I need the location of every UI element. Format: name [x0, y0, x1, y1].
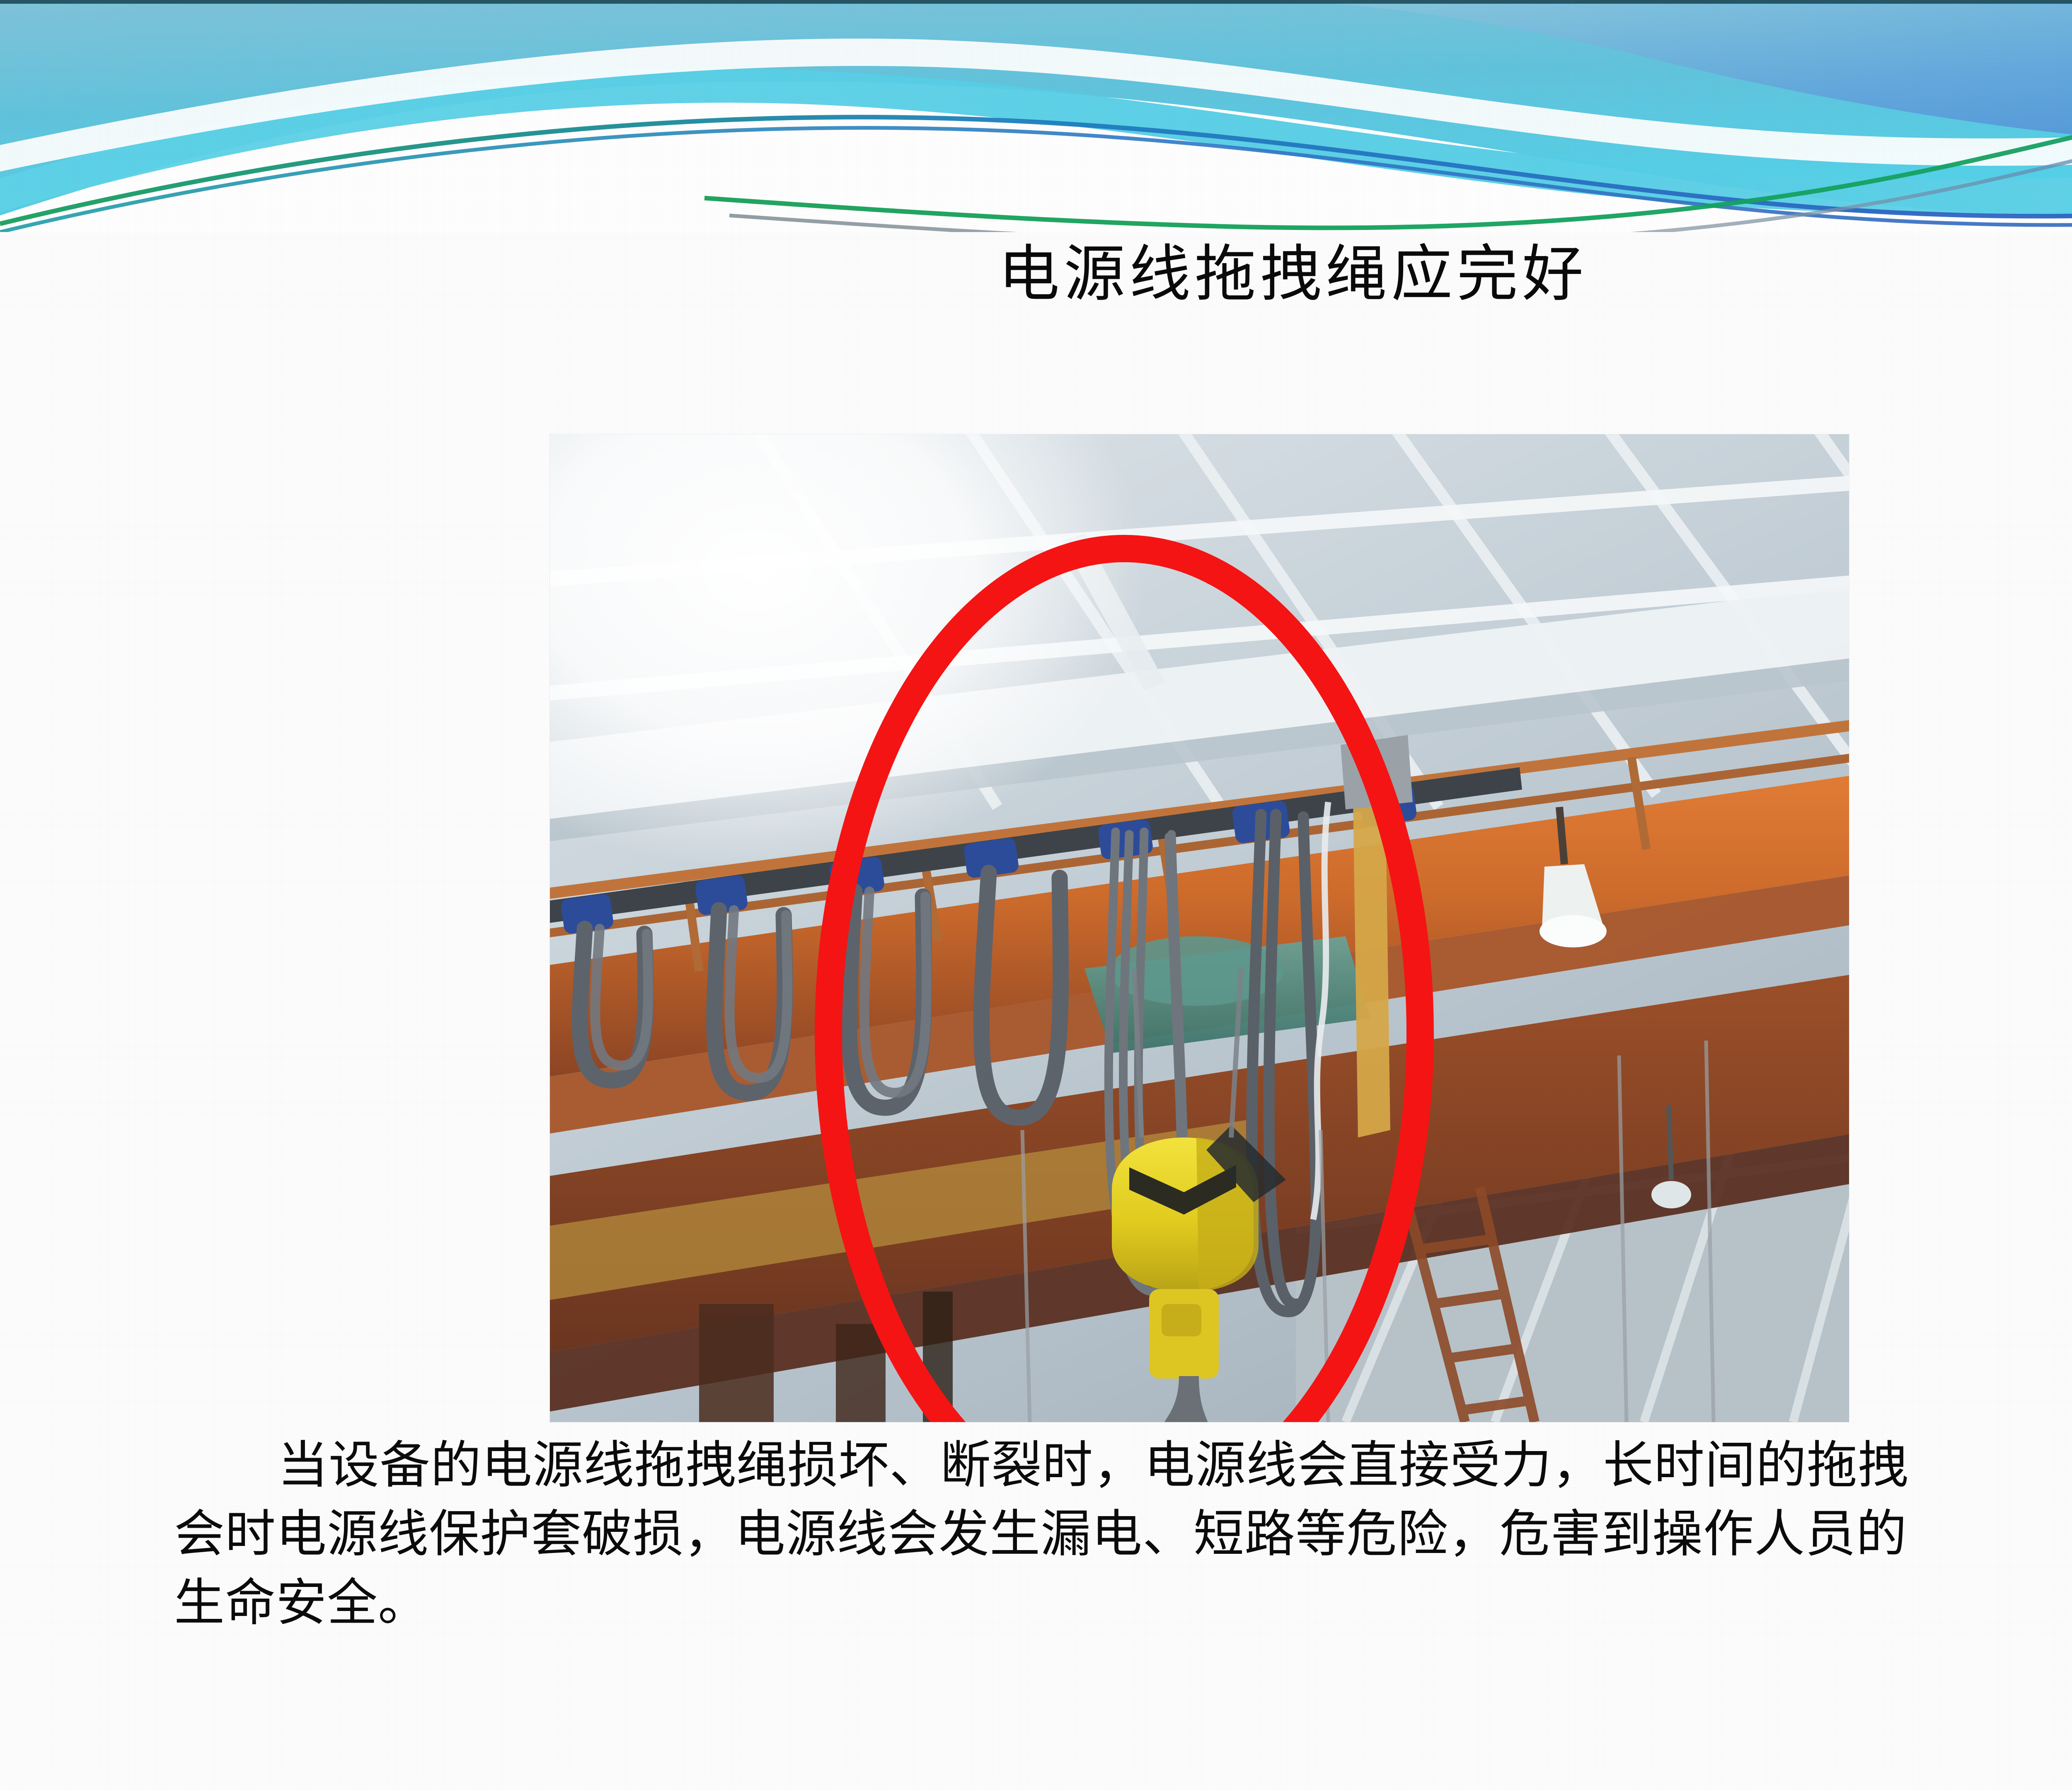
body-line-2-text: 会时电源线保护套破损，电源线会发生漏电、短路等危险，危害到操作人员的 — [174, 1507, 1907, 1563]
banner-top-edge — [0, 0, 2072, 4]
slide-title-text: 电源线拖拽绳应完好 — [998, 241, 1588, 309]
body-line-1: 当设备的电源线拖拽绳损坏、断裂时，电源线会直接受力，长时间的拖拽 — [174, 1432, 2072, 1500]
wave-banner-svg — [0, 0, 2072, 232]
body-line-3: 生命安全。 — [174, 1569, 2072, 1638]
wave-banner-decoration — [0, 0, 2072, 232]
crane-photo-svg — [550, 434, 1849, 1422]
slide-title: 电源线拖拽绳应完好 — [0, 241, 2072, 309]
body-line-2: 会时电源线保护套破损，电源线会发生漏电、短路等危险，危害到操作人员的 — [174, 1500, 2072, 1569]
body-line-1-text: 当设备的电源线拖拽绳损坏、断裂时，电源线会直接受力，长时间的拖拽 — [278, 1438, 1909, 1494]
crane-photo — [550, 434, 1849, 1422]
body-line-3-text: 生命安全。 — [174, 1575, 429, 1631]
body-paragraph: 当设备的电源线拖拽绳损坏、断裂时，电源线会直接受力，长时间的拖拽 会时电源线保护… — [174, 1432, 2072, 1638]
slide-canvas: 电源线拖拽绳应完好 — [0, 0, 2072, 1790]
